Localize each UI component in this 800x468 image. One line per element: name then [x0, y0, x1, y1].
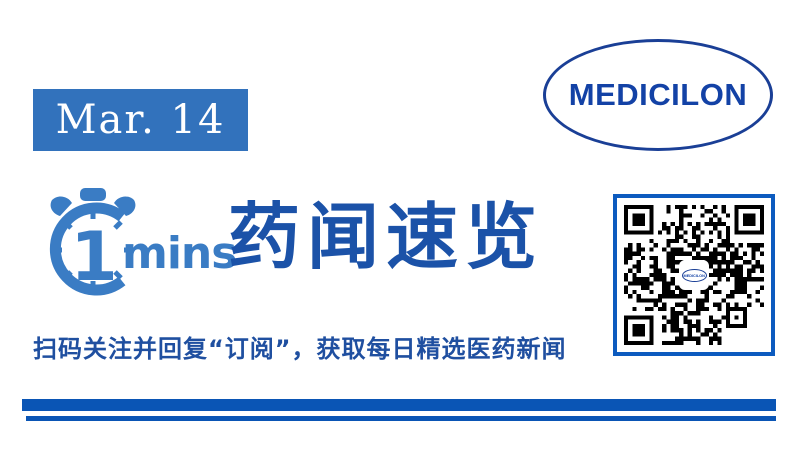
qr-module-grid: MEDICILON — [624, 205, 764, 345]
date-badge: Mar. 14 — [33, 89, 248, 151]
headline-title: 药闻速览 — [228, 196, 544, 279]
qr-logo-ellipse-icon: MEDICILON — [682, 269, 707, 282]
subtitle-text: 扫码关注并回复“订阅”，获取每日精选医药新闻 — [33, 329, 567, 364]
date-badge-label: Mar. 14 — [56, 100, 226, 140]
logo-wordmark: MEDICILON — [543, 77, 773, 113]
svg-text:1: 1 — [70, 218, 117, 297]
footer-rule-thin — [26, 416, 776, 421]
wechat-qr-code[interactable]: MEDICILON — [613, 194, 775, 356]
footer-rule-thick — [22, 399, 776, 411]
medicilon-logo: MEDICILON — [543, 39, 773, 151]
qr-logo-wordmark: MEDICILON — [683, 273, 704, 278]
mins-label: mins — [122, 232, 236, 276]
poster-canvas: Mar. 14 MEDICILON — [0, 0, 800, 468]
qr-center-logo: MEDICILON — [679, 260, 709, 290]
